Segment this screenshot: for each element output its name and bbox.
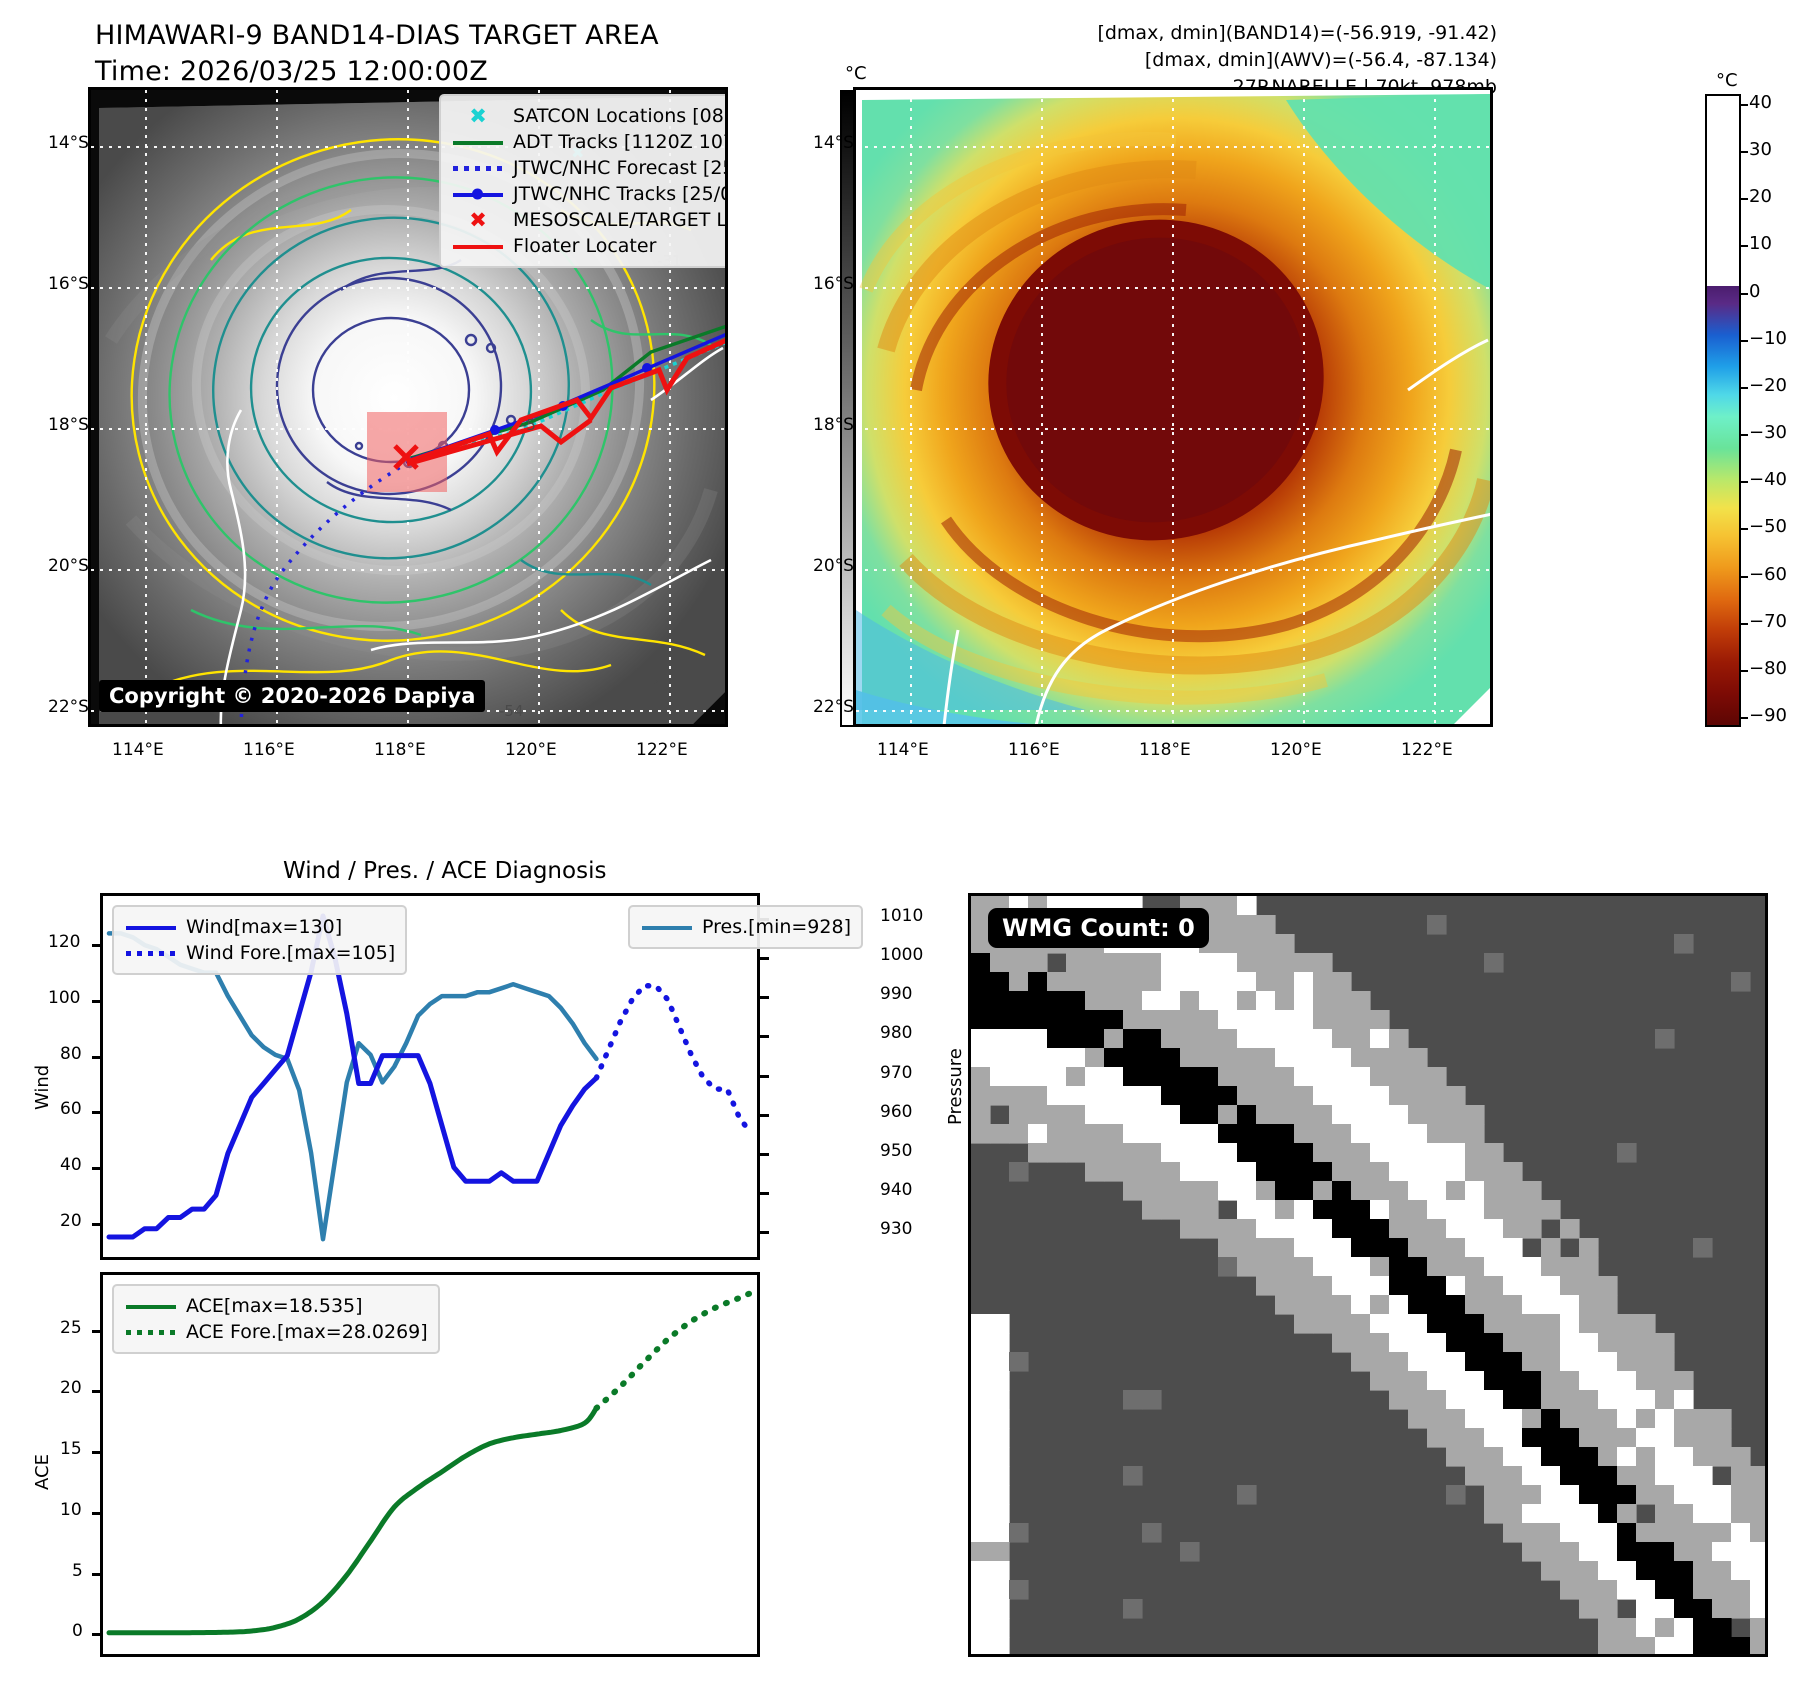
wmg-cell <box>1009 1010 1029 1030</box>
wmg-cell <box>1693 1447 1713 1467</box>
wmg-cell <box>1123 991 1143 1011</box>
wmg-cell <box>1503 1238 1523 1258</box>
wmg-cell <box>1047 1143 1067 1163</box>
wmg-cell <box>1674 1599 1694 1619</box>
wmg-cell <box>1655 1561 1675 1581</box>
lon-tick-left-3: 120°E <box>505 740 557 760</box>
colorbar-tick-mark <box>1741 576 1748 578</box>
wmg-cell <box>990 1333 1010 1353</box>
wmg-cell <box>1731 1523 1751 1543</box>
map-right-canvas <box>856 90 1492 726</box>
wmg-cell <box>1218 1105 1238 1125</box>
colorbar-tick-label: −10 <box>1749 328 1787 349</box>
wmg-cell <box>1142 1010 1162 1030</box>
wmg-cell <box>1123 1390 1143 1410</box>
wmg-cell <box>1066 991 1086 1011</box>
wmg-cell <box>971 1067 991 1087</box>
wmg-cell <box>1465 1314 1485 1334</box>
wmg-cell <box>1617 1561 1637 1581</box>
wmg-cell <box>1332 1010 1352 1030</box>
wmg-cell <box>1161 1029 1181 1049</box>
ace-tick-label: 20 <box>60 1378 82 1398</box>
wmg-cell <box>1389 1390 1409 1410</box>
satellite-map-awv[interactable] <box>853 87 1493 727</box>
lat-tick-left-0: 14°S <box>48 133 89 153</box>
wmg-cell <box>1351 1067 1371 1087</box>
wmg-cell <box>1465 1257 1485 1277</box>
wmg-cell <box>1313 1181 1333 1201</box>
wmg-cell <box>1427 1238 1447 1258</box>
wmg-cell <box>1180 1162 1200 1182</box>
wmg-cell <box>1560 1295 1580 1315</box>
wmg-cell <box>1655 1428 1675 1448</box>
wmg-cell <box>1636 1333 1656 1353</box>
wmg-cell <box>1142 953 1162 973</box>
wmg-cell <box>1028 1086 1048 1106</box>
wmg-cell <box>1218 1029 1238 1049</box>
wmg-cell <box>1047 1010 1067 1030</box>
wmg-cell <box>990 1390 1010 1410</box>
wmg-cell <box>1294 1124 1314 1144</box>
colorbar-tick-label: 30 <box>1749 139 1772 160</box>
wmg-cell <box>1465 1162 1485 1182</box>
wmg-cell <box>971 1637 991 1654</box>
wmg-cell <box>1446 1333 1466 1353</box>
satellite-map-band14[interactable]: ✖ -54-4 -31-5 ✖ SATCON Locations [0830Z … <box>88 87 728 727</box>
wmg-cell <box>1465 1409 1485 1429</box>
wmg-canvas <box>971 896 1765 1654</box>
wmg-cell <box>1503 1466 1523 1486</box>
wmg-cell <box>1503 1333 1523 1353</box>
wmg-cell <box>1142 1181 1162 1201</box>
wmg-cell <box>1465 1428 1485 1448</box>
ace-tick-label: 25 <box>60 1318 82 1338</box>
wmg-cell <box>971 1485 991 1505</box>
wmg-cell <box>1161 953 1181 973</box>
wmg-cell <box>1484 1409 1504 1429</box>
wmg-cell <box>1237 1181 1257 1201</box>
wmg-cell <box>1389 1086 1409 1106</box>
wmg-cell <box>1180 1181 1200 1201</box>
wmg-cell <box>1503 1447 1523 1467</box>
wmg-cell <box>971 1333 991 1353</box>
wmg-cell <box>1446 1143 1466 1163</box>
wmg-cell <box>1541 1523 1561 1543</box>
wmg-cell <box>971 1542 991 1562</box>
wmg-cell <box>1199 1181 1219 1201</box>
wmg-cell <box>1427 1162 1447 1182</box>
wmg-cell <box>1598 1409 1618 1429</box>
wmg-cell <box>1541 1542 1561 1562</box>
wmg-cell <box>1218 1086 1238 1106</box>
wmg-cell <box>1085 1162 1105 1182</box>
wmg-cell <box>1750 1580 1765 1600</box>
wmg-cell <box>1142 1086 1162 1106</box>
legend-item-pressure: Pres.[min=928] <box>640 914 851 940</box>
wmg-cell <box>1028 972 1048 992</box>
wmg-cell <box>1503 1219 1523 1239</box>
wmg-cell <box>990 1352 1010 1372</box>
wmg-cell <box>1047 1124 1067 1144</box>
wmg-cell <box>1275 1048 1295 1068</box>
colorbar-right <box>1705 94 1741 727</box>
tick-mark <box>760 1114 769 1117</box>
wmg-cell <box>1636 1447 1656 1467</box>
wmg-cell <box>1237 1219 1257 1239</box>
wmg-cell <box>1370 1314 1390 1334</box>
wmg-cell <box>1579 1390 1599 1410</box>
legend-label-jtwc-forecast: JTWC/NHC Forecast [25/0600Z] <box>513 155 728 181</box>
wmg-cell <box>1123 1010 1143 1030</box>
wmg-cell <box>1636 1523 1656 1543</box>
wmg-cell <box>1693 1561 1713 1581</box>
wmg-cell <box>1180 1010 1200 1030</box>
wmg-cell <box>971 1466 991 1486</box>
wmg-cell <box>1313 1105 1333 1125</box>
wmg-cell <box>1218 915 1238 935</box>
wmg-cell <box>971 1504 991 1524</box>
wmg-cell <box>1351 1086 1371 1106</box>
wmg-cell <box>1427 1333 1447 1353</box>
wmg-cell <box>1104 991 1124 1011</box>
wmg-cell <box>1028 1143 1048 1163</box>
wmg-cell <box>1617 1618 1637 1638</box>
wmg-cell <box>1351 1143 1371 1163</box>
wmg-cell <box>971 1352 991 1372</box>
wmg-cell <box>1636 1428 1656 1448</box>
wmg-cell <box>1617 1504 1637 1524</box>
wmg-cell <box>1199 1105 1219 1125</box>
wmg-cell <box>1427 1086 1447 1106</box>
title-line-2: Time: 2026/03/25 12:00:00Z <box>95 54 659 90</box>
wmg-cell <box>1180 1105 1200 1125</box>
wmg-cell <box>1560 1523 1580 1543</box>
wmg-cell <box>1028 1029 1048 1049</box>
wmg-cell <box>1199 1143 1219 1163</box>
wmg-cell <box>1332 1181 1352 1201</box>
wmg-cell <box>1465 1447 1485 1467</box>
legend-item-ace: ACE[max=18.535] <box>124 1293 428 1319</box>
wmg-cell <box>1522 1257 1542 1277</box>
wmg-cell <box>1085 1105 1105 1125</box>
wmg-cell <box>1256 1048 1276 1068</box>
wmg-cell <box>990 1067 1010 1087</box>
wmg-cell <box>971 1428 991 1448</box>
wmg-cell <box>1028 953 1048 973</box>
tick-mark <box>92 1512 101 1515</box>
wmg-cell <box>1408 1352 1428 1372</box>
wmg-cell <box>971 1447 991 1467</box>
wmg-cell <box>1674 1561 1694 1581</box>
wmg-cell <box>1370 1219 1390 1239</box>
wmg-cell <box>1085 1086 1105 1106</box>
wmg-cell <box>1389 1048 1409 1068</box>
colorbar-tick-mark <box>1741 387 1748 389</box>
wmg-cell <box>1161 1200 1181 1220</box>
wmg-cell <box>1370 1067 1390 1087</box>
tick-mark <box>92 1573 101 1576</box>
wind-tick-label: 60 <box>60 1099 82 1119</box>
wmg-cell <box>1750 1485 1765 1505</box>
wmg-cell <box>1598 1599 1618 1619</box>
wmg-cell <box>1655 1333 1675 1353</box>
wmg-cell <box>1617 1485 1637 1505</box>
wmg-cell <box>1465 1238 1485 1258</box>
wmg-cell <box>1104 1010 1124 1030</box>
wmg-cell <box>1579 1371 1599 1391</box>
wmg-cell <box>1712 1542 1732 1562</box>
lat-tick-right-2: 18°S <box>813 415 854 435</box>
lon-tick-left-2: 118°E <box>374 740 426 760</box>
wmg-cell <box>1218 991 1238 1011</box>
lon-tick-right-3: 120°E <box>1270 740 1322 760</box>
wmg-cell <box>1275 972 1295 992</box>
wmg-panel[interactable] <box>968 893 1768 1657</box>
wmg-cell <box>1712 1618 1732 1638</box>
wmg-cell <box>1712 1428 1732 1448</box>
wmg-cell <box>990 1371 1010 1391</box>
wmg-cell <box>1351 1124 1371 1144</box>
wmg-cell <box>1066 1143 1086 1163</box>
wmg-cell <box>1693 1485 1713 1505</box>
wmg-cell <box>1693 1618 1713 1638</box>
wmg-cell <box>1332 1257 1352 1277</box>
wmg-cell <box>1313 1276 1333 1296</box>
wmg-cell <box>1370 1086 1390 1106</box>
wmg-cell <box>1408 1371 1428 1391</box>
wmg-cell <box>1142 972 1162 992</box>
wmg-cell <box>990 1314 1010 1334</box>
wmg-cell <box>1351 1010 1371 1030</box>
svg-text:-4: -4 <box>647 676 662 694</box>
wmg-cell <box>1218 972 1238 992</box>
wmg-cell <box>990 1618 1010 1638</box>
legend-label-ace-forecast: ACE Fore.[max=28.0269] <box>186 1319 428 1345</box>
wmg-cell <box>1541 1371 1561 1391</box>
wmg-cell <box>1693 1599 1713 1619</box>
wmg-cell <box>1427 1352 1447 1372</box>
wmg-cell <box>1503 1314 1523 1334</box>
wmg-cell <box>1693 1504 1713 1524</box>
wmg-cell <box>1256 1257 1276 1277</box>
wmg-cell <box>1218 1010 1238 1030</box>
legend-label-adt: ADT Tracks [1120Z 107.2 947.9] <box>513 129 728 155</box>
wmg-cell <box>1066 953 1086 973</box>
wmg-cell <box>1427 1105 1447 1125</box>
legend-label-ace: ACE[max=18.535] <box>186 1293 363 1319</box>
wmg-cell <box>1617 1390 1637 1410</box>
wmg-cell <box>1541 1314 1561 1334</box>
wmg-cell <box>1427 1067 1447 1087</box>
wmg-cell <box>1636 1599 1656 1619</box>
wmg-cell <box>1389 1276 1409 1296</box>
wmg-cell <box>1370 1124 1390 1144</box>
wmg-cell <box>1294 1029 1314 1049</box>
wmg-cell <box>1503 1352 1523 1372</box>
wmg-cell <box>1218 1257 1238 1277</box>
wmg-cell <box>1655 1637 1675 1654</box>
wind-tick-label: 100 <box>48 988 80 1008</box>
pressure-tick-label: 1000 <box>880 945 923 965</box>
series-line <box>596 986 751 1134</box>
wmg-cell <box>1655 1466 1675 1486</box>
wmg-cell <box>1522 1314 1542 1334</box>
legend-item-wind: Wind[max=130] <box>124 914 395 940</box>
wmg-cell <box>1636 1485 1656 1505</box>
wmg-cell <box>1351 1314 1371 1334</box>
wmg-cell <box>1123 1181 1143 1201</box>
wmg-cell <box>1484 1238 1504 1258</box>
wind-tick-label: 40 <box>60 1155 82 1175</box>
wmg-cell <box>971 991 991 1011</box>
wmg-cell <box>1503 1390 1523 1410</box>
wmg-cell <box>1161 1010 1181 1030</box>
wmg-cell <box>1332 1276 1352 1296</box>
wmg-cell <box>1066 1010 1086 1030</box>
wmg-cell <box>1237 1010 1257 1030</box>
wmg-cell <box>1256 1067 1276 1087</box>
wmg-cell <box>1674 1618 1694 1638</box>
wmg-cell <box>1522 1542 1542 1562</box>
lat-tick-left-3: 20°S <box>48 556 89 576</box>
colorbar-tick-label: 10 <box>1749 233 1772 254</box>
wmg-cell <box>1256 1219 1276 1239</box>
wmg-cell <box>1199 1162 1219 1182</box>
wmg-cell <box>1370 1295 1390 1315</box>
wmg-cell <box>1598 1561 1618 1581</box>
wmg-cell <box>1579 1409 1599 1429</box>
wmg-cell <box>1161 1048 1181 1068</box>
wmg-cell <box>1047 1048 1067 1068</box>
wmg-cell <box>1503 1523 1523 1543</box>
wmg-cell <box>1294 1276 1314 1296</box>
wmg-cell <box>1636 1637 1656 1654</box>
tick-mark <box>760 1035 769 1038</box>
tick-mark <box>92 1223 101 1226</box>
wmg-cell <box>971 1599 991 1619</box>
colorbar-tick-mark <box>1741 245 1748 247</box>
wmg-cell <box>1579 1238 1599 1258</box>
wmg-cell <box>1009 1352 1029 1372</box>
colorbar-tick-label: −40 <box>1749 469 1787 490</box>
wmg-cell <box>1579 1485 1599 1505</box>
wmg-cell <box>1294 1200 1314 1220</box>
colorbar-tick-label: −30 <box>1749 422 1787 443</box>
wmg-cell <box>1370 1105 1390 1125</box>
wmg-cell <box>1408 1333 1428 1353</box>
wmg-cell <box>1313 1029 1333 1049</box>
wmg-cell <box>1028 991 1048 1011</box>
wmg-cell <box>1199 1200 1219 1220</box>
wmg-cell <box>1522 1447 1542 1467</box>
wmg-cell <box>1579 1523 1599 1543</box>
wmg-cell <box>1313 1219 1333 1239</box>
wmg-cell <box>1275 1124 1295 1144</box>
wmg-cell <box>1427 1257 1447 1277</box>
colorbar-tick-label: 20 <box>1749 186 1772 207</box>
wmg-cell <box>1617 1542 1637 1562</box>
ace-line-icon <box>124 1293 178 1319</box>
wmg-cell <box>1617 1580 1637 1600</box>
wmg-cell <box>1636 1466 1656 1486</box>
wmg-cell <box>1180 1029 1200 1049</box>
wmg-cell <box>1541 1428 1561 1448</box>
wmg-cell <box>1104 1105 1124 1125</box>
wmg-cell <box>1389 1029 1409 1049</box>
wmg-cell <box>1351 1333 1371 1353</box>
wmg-cell <box>1427 1428 1447 1448</box>
wmg-cell <box>1503 1295 1523 1315</box>
wmg-cell <box>1674 1409 1694 1429</box>
wmg-cell <box>1579 1504 1599 1524</box>
legend-item-wind-forecast: Wind Fore.[max=105] <box>124 940 395 966</box>
lon-tick-right-4: 122°E <box>1401 740 1453 760</box>
tick-mark <box>92 1633 101 1636</box>
wmg-cell <box>1731 1485 1751 1505</box>
wmg-cell <box>1446 1371 1466 1391</box>
wmg-cell <box>990 1542 1010 1562</box>
wmg-cell <box>1674 1447 1694 1467</box>
wmg-cell <box>1484 1333 1504 1353</box>
wmg-cell <box>1446 1314 1466 1334</box>
wmg-cell <box>990 1447 1010 1467</box>
wmg-cell <box>1351 1295 1371 1315</box>
wmg-cell <box>1161 991 1181 1011</box>
wmg-cell <box>1560 1580 1580 1600</box>
wmg-cell <box>1009 1048 1029 1068</box>
wmg-cell <box>1332 1105 1352 1125</box>
wmg-cell <box>1332 1048 1352 1068</box>
wmg-cell <box>990 1029 1010 1049</box>
wmg-cell <box>1617 1143 1637 1163</box>
wmg-cell <box>1332 972 1352 992</box>
wmg-cell <box>1123 1048 1143 1068</box>
wmg-cell <box>1541 1447 1561 1467</box>
wmg-cell <box>1389 1257 1409 1277</box>
legend-item-adt: ADT Tracks [1120Z 107.2 947.9] <box>451 129 728 155</box>
wmg-cell <box>1313 1200 1333 1220</box>
wmg-cell <box>1275 1276 1295 1296</box>
wmg-cell <box>1009 1580 1029 1600</box>
wmg-cell <box>1199 953 1219 973</box>
wmg-cell <box>1617 1371 1637 1391</box>
wmg-cell <box>1484 1276 1504 1296</box>
wmg-cell <box>1636 1561 1656 1581</box>
wmg-cell <box>1123 1086 1143 1106</box>
wmg-cell <box>1275 1238 1295 1258</box>
wmg-cell <box>1123 1162 1143 1182</box>
wmg-cell <box>1237 1143 1257 1163</box>
wmg-cell <box>1237 991 1257 1011</box>
wmg-cell <box>1446 1257 1466 1277</box>
wmg-cell <box>1066 1067 1086 1087</box>
wmg-cell <box>1199 1124 1219 1144</box>
wmg-cell <box>1313 1295 1333 1315</box>
wmg-cell <box>1009 1162 1029 1182</box>
wmg-cell <box>971 1314 991 1334</box>
page-title: HIMAWARI-9 BAND14-DIAS TARGET AREA Time:… <box>95 18 659 90</box>
wmg-cell <box>1598 1523 1618 1543</box>
wmg-cell <box>1598 1352 1618 1372</box>
wmg-cell <box>1579 1542 1599 1562</box>
wmg-cell <box>1522 1485 1542 1505</box>
wmg-cell <box>1522 1523 1542 1543</box>
mesoscale-x-icon: ✖ <box>451 210 505 231</box>
wmg-cell <box>1655 1618 1675 1638</box>
wmg-cell <box>1237 1048 1257 1068</box>
colorbar-tick-mark <box>1741 623 1748 625</box>
wmg-cell <box>1579 1561 1599 1581</box>
